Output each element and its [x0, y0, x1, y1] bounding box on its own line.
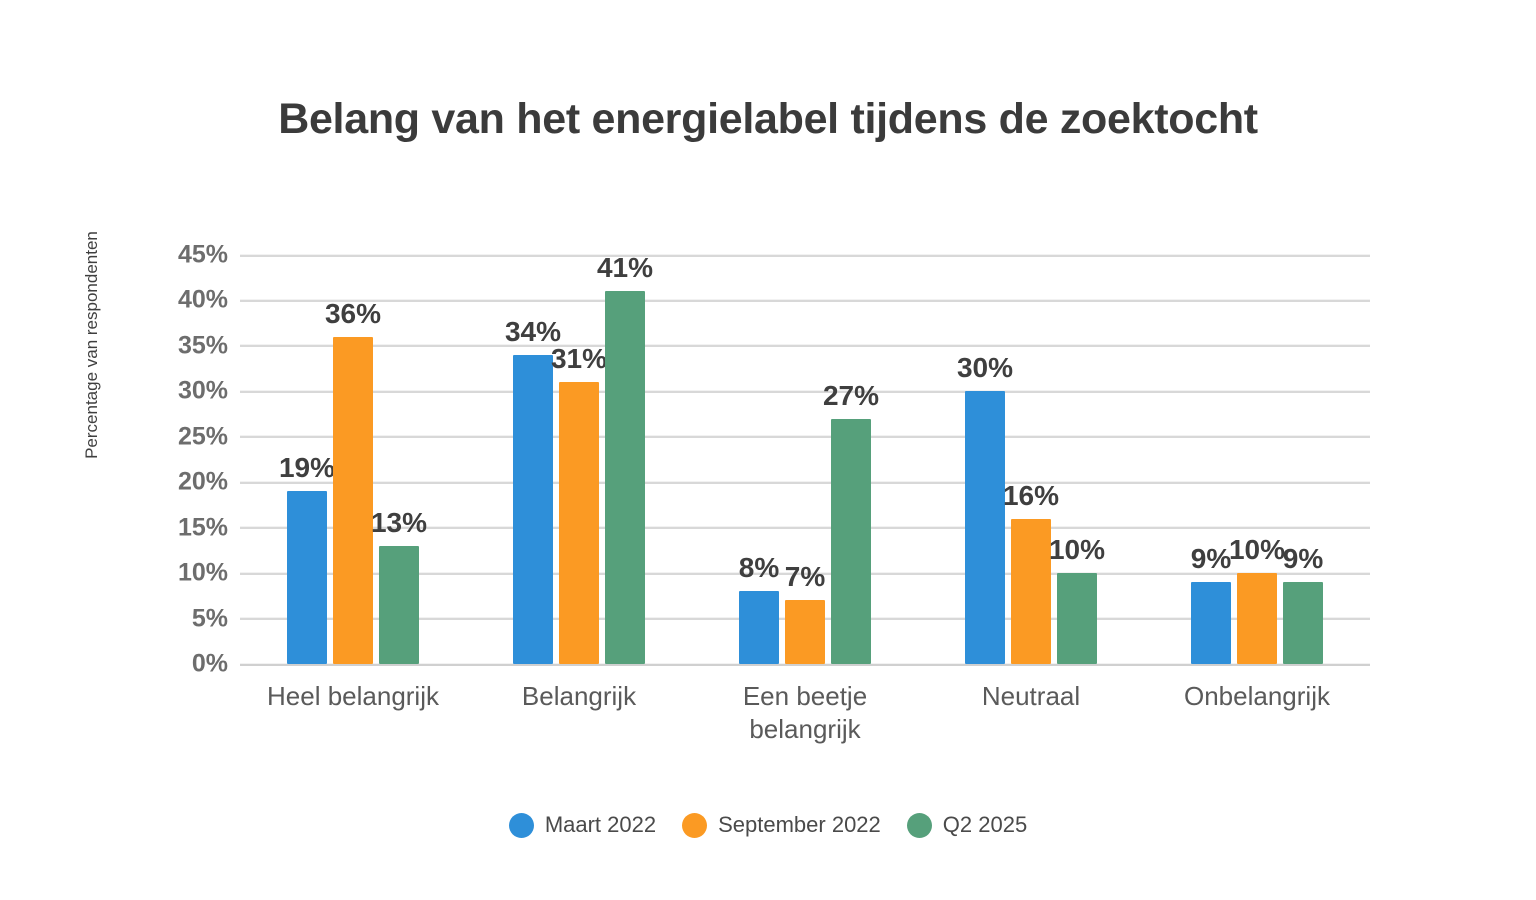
bar[interactable] [513, 355, 553, 664]
bar-value-label: 9% [1259, 545, 1347, 573]
bar[interactable] [785, 600, 825, 664]
plot-area: 19%36%13%34%31%41%8%7%27%30%16%10%9%10%9… [240, 255, 1370, 664]
y-axis-tick-label: 5% [192, 604, 228, 633]
bar-value-label: 30% [941, 354, 1029, 382]
y-axis-tick-labels: 45%40%35%30%25%20%15%10%5%0% [140, 255, 228, 664]
legend-item[interactable]: Q2 2025 [907, 812, 1027, 838]
bar[interactable] [605, 291, 645, 664]
bar[interactable] [287, 491, 327, 664]
legend-swatch-circle-icon [682, 813, 707, 838]
x-axis-category-labels: Heel belangrijkBelangrijkEen beetje bela… [240, 680, 1370, 790]
legend-item[interactable]: Maart 2022 [509, 812, 656, 838]
y-axis-tick-label: 40% [178, 286, 228, 315]
x-axis-category-label: Heel belangrijk [238, 680, 468, 713]
bar-group: 30%16%10% [918, 255, 1144, 664]
x-axis-category-label: Onbelangrijk [1142, 680, 1372, 713]
bar[interactable] [1283, 582, 1323, 664]
chart-title: Belang van het energielabel tijdens de z… [0, 95, 1536, 144]
bar-group: 19%36%13% [240, 255, 466, 664]
y-axis-tick-label: 0% [192, 650, 228, 679]
y-axis-tick-label: 30% [178, 377, 228, 406]
bar-group: 9%10%9% [1144, 255, 1370, 664]
legend-label: Maart 2022 [545, 812, 656, 838]
bar[interactable] [831, 419, 871, 664]
y-axis-tick-label: 45% [178, 241, 228, 270]
bar[interactable] [1237, 573, 1277, 664]
bar-value-label: 34% [489, 318, 577, 346]
bar-group: 34%31%41% [466, 255, 692, 664]
bar[interactable] [1191, 582, 1231, 664]
bar-value-label: 36% [309, 300, 397, 328]
legend-swatch-circle-icon [907, 813, 932, 838]
bar-value-label: 10% [1033, 536, 1121, 564]
bar[interactable] [965, 391, 1005, 664]
x-axis-category-label: Een beetje belangrijk [690, 680, 920, 747]
y-axis-tick-label: 35% [178, 331, 228, 360]
y-axis-tick-label: 10% [178, 559, 228, 588]
bar-value-label: 41% [581, 254, 669, 282]
bar-value-label: 27% [807, 382, 895, 410]
bar[interactable] [333, 337, 373, 664]
legend-swatch-circle-icon [509, 813, 534, 838]
bar-value-label: 16% [987, 482, 1075, 510]
chart-legend: Maart 2022September 2022Q2 2025 [0, 812, 1536, 838]
bar[interactable] [379, 546, 419, 664]
bar[interactable] [1057, 573, 1097, 664]
y-axis-tick-label: 20% [178, 468, 228, 497]
legend-label: September 2022 [718, 812, 881, 838]
y-axis-tick-label: 15% [178, 513, 228, 542]
bar-value-label: 13% [355, 509, 443, 537]
bar-group: 8%7%27% [692, 255, 918, 664]
legend-item[interactable]: September 2022 [682, 812, 881, 838]
x-axis-category-label: Neutraal [916, 680, 1146, 713]
legend-label: Q2 2025 [943, 812, 1027, 838]
y-axis-title: Percentage van respondenten [82, 215, 102, 475]
y-axis-tick-label: 25% [178, 422, 228, 451]
bar-chart: Belang van het energielabel tijdens de z… [0, 0, 1536, 900]
bar[interactable] [559, 382, 599, 664]
x-axis-category-label: Belangrijk [464, 680, 694, 713]
bar[interactable] [739, 591, 779, 664]
